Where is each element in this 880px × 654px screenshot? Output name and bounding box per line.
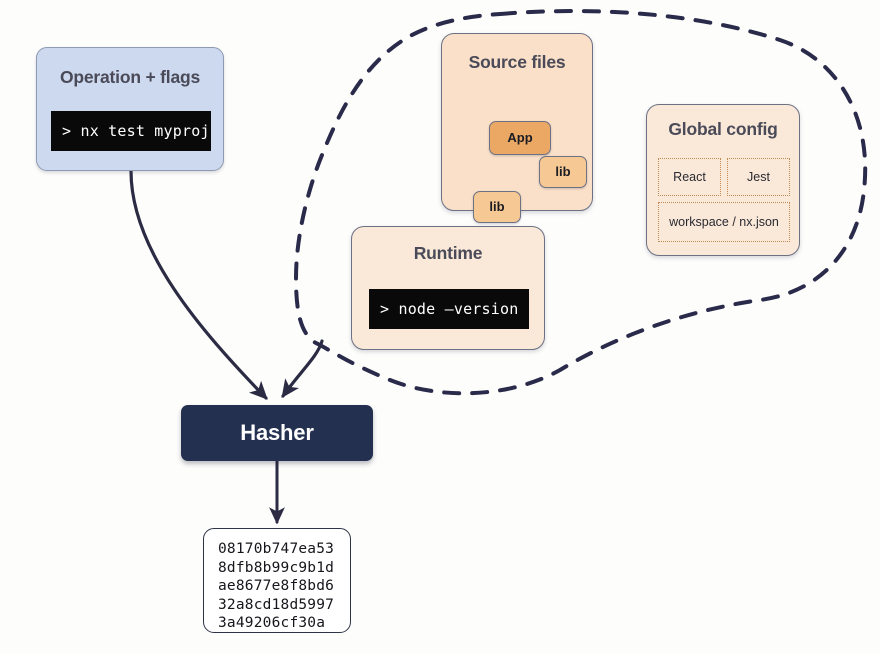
source-node-app[interactable]: App <box>489 121 551 155</box>
runtime-card[interactable]: Runtime > node –version <box>351 226 545 350</box>
operation-command-terminal: > nx test myproj <box>51 111 211 151</box>
edge-inputs-to-hasher <box>283 341 322 396</box>
hash-output-text: 08170b747ea53 8dfb8b99c9b1d ae8677e8f8bd… <box>204 529 350 633</box>
config-cell-react[interactable]: React <box>658 158 721 196</box>
hasher-label: Hasher <box>181 405 373 461</box>
source-node-lib-right[interactable]: lib <box>539 156 587 188</box>
config-cell-workspace-nxjson[interactable]: workspace / nx.json <box>658 202 790 242</box>
operation-flags-title: Operation + flags <box>37 67 223 88</box>
hasher-node[interactable]: Hasher <box>181 405 373 461</box>
global-config-card[interactable]: Global config React Jest workspace / nx.… <box>646 104 800 256</box>
runtime-command-terminal: > node –version <box>369 289 529 329</box>
edge-operation-to-hasher <box>131 171 266 398</box>
diagram-canvas: Operation + flags > nx test myproj Sourc… <box>0 0 880 654</box>
hash-output-card: 08170b747ea53 8dfb8b99c9b1d ae8677e8f8bd… <box>203 528 351 633</box>
source-node-lib-left[interactable]: lib <box>473 191 521 223</box>
operation-flags-card[interactable]: Operation + flags > nx test myproj <box>36 47 224 171</box>
config-cell-jest[interactable]: Jest <box>727 158 790 196</box>
runtime-title: Runtime <box>352 243 544 264</box>
source-files-card[interactable]: Source files App lib lib <box>441 33 593 211</box>
global-config-title: Global config <box>647 119 799 140</box>
source-files-title: Source files <box>442 52 592 73</box>
